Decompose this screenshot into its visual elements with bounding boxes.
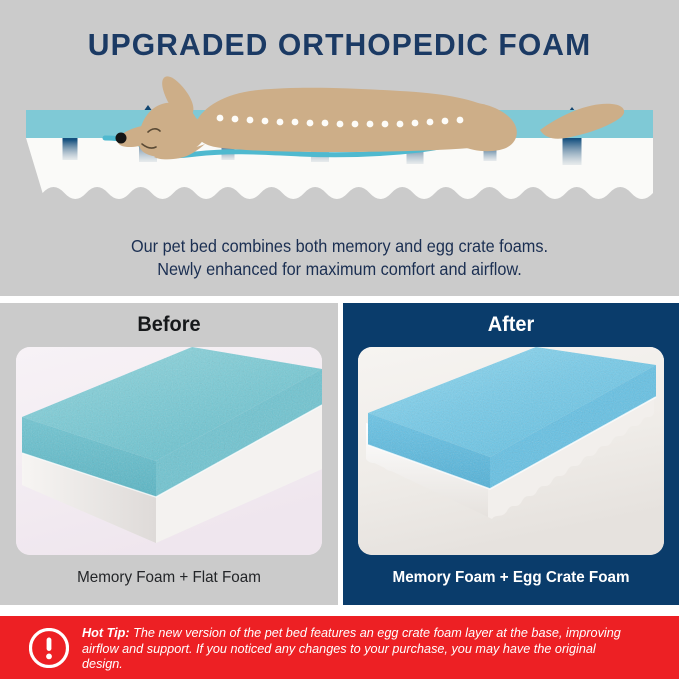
hot-tip-body: The new version of the pet bed features … [82, 625, 621, 671]
hot-tip-label: Hot Tip: [82, 625, 130, 640]
hero-subtitle-line-1: Our pet bed combines both memory and egg… [24, 236, 655, 257]
after-caption: Memory Foam + Egg Crate Foam [351, 569, 670, 587]
hero-subtitle-line-2: Newly enhanced for maximum comfort and a… [24, 259, 655, 280]
after-heading: After [351, 313, 670, 337]
hero-section: UPGRADED ORTHOPEDIC FOAM [0, 0, 679, 296]
before-foam-photo [16, 347, 322, 555]
dog-nose [116, 133, 127, 144]
after-foam-photo [358, 347, 664, 555]
hot-tip-bar: Hot Tip: The new version of the pet bed … [0, 616, 679, 679]
bottom-divider [0, 605, 679, 616]
before-heading: Before [8, 313, 329, 337]
hot-tip-text: Hot Tip: The new version of the pet bed … [82, 625, 631, 672]
panel-divider [338, 303, 343, 605]
section-divider [0, 296, 679, 303]
exclamation-circle-icon [29, 628, 69, 668]
page-title: UPGRADED ORTHOPEDIC FOAM [10, 27, 669, 63]
before-caption: Memory Foam + Flat Foam [8, 569, 329, 587]
before-panel: Before [0, 303, 338, 605]
foam-illustration [0, 72, 679, 232]
after-panel: After [343, 303, 679, 605]
infographic-page: UPGRADED ORTHOPEDIC FOAM [0, 0, 679, 679]
